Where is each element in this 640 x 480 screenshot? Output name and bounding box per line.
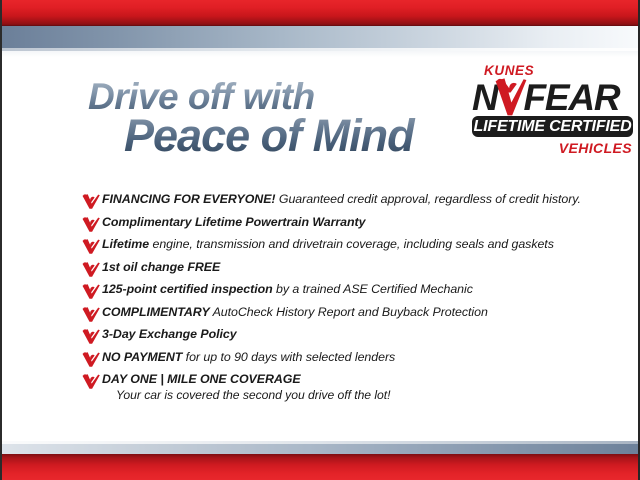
benefit-item: 125-point certified inspection by a trai… [82,282,608,299]
check-mark-icon [494,78,527,116]
benefit-item: DAY ONE | MILE ONE COVERAGEYour car is c… [82,372,608,402]
top-red-band [2,0,638,26]
check-mark-icon [82,239,102,254]
benefit-headline: 125-point certified inspection [102,282,273,296]
benefit-item: NO PAYMENT for up to 90 days with select… [82,350,608,367]
benefit-detail: engine, transmission and drivetrain cove… [149,237,554,251]
benefit-text: NO PAYMENT for up to 90 days with select… [102,350,395,365]
benefit-item: COMPLIMENTARY AutoCheck History Report a… [82,305,608,322]
check-mark-icon [82,329,102,344]
headline-block: Drive off with Peace of Mind [88,78,468,159]
benefit-detail: Guaranteed credit approval, regardless o… [275,192,580,206]
benefit-text: FINANCING FOR EVERYONE! Guaranteed credi… [102,192,581,207]
logo-no-fear-wordmark: N FEAR [472,78,619,116]
benefit-headline: COMPLIMENTARY [102,305,210,319]
check-mark-icon [82,194,102,209]
top-slate-band [2,26,638,51]
benefit-text: 3-Day Exchange Policy [102,327,237,342]
check-mark-icon [82,262,102,277]
logo-brand-kunes: KUNES [484,64,534,78]
benefit-subtext: Your car is covered the second you drive… [116,388,390,402]
benefit-detail: for up to 90 days with selected lenders [182,350,395,364]
benefit-item: Complimentary Lifetime Powertrain Warran… [82,215,608,232]
benefit-headline: Complimentary Lifetime Powertrain Warran… [102,215,365,229]
benefit-headline: DAY ONE | MILE ONE COVERAGE [102,372,301,386]
benefit-item: 1st oil change FREE [82,260,608,277]
benefit-headline: 1st oil change FREE [102,260,220,274]
logo-banner-text: LIFETIME CERTIFIED [474,119,632,135]
bottom-slate-band [2,441,638,454]
check-mark-icon [82,374,102,389]
bottom-red-band [2,454,638,480]
benefit-text: 125-point certified inspection by a trai… [102,282,473,297]
benefit-headline: Lifetime [102,237,149,251]
benefit-text: 1st oil change FREE [102,260,220,275]
benefit-detail: by a trained ASE Certified Mechanic [273,282,473,296]
benefit-text: DAY ONE | MILE ONE COVERAGEYour car is c… [102,372,390,402]
check-mark-icon [82,307,102,322]
benefit-item: Lifetime engine, transmission and drivet… [82,237,608,254]
kunes-no-fear-logo: KUNES N FEAR LIFETIME CERTIFIED VEHICLES [468,64,636,162]
check-mark-icon [82,284,102,299]
benefit-item: 3-Day Exchange Policy [82,327,608,344]
benefit-text: Complimentary Lifetime Powertrain Warran… [102,215,365,230]
benefit-headline: NO PAYMENT [102,350,182,364]
benefit-headline: FINANCING FOR EVERYONE! [102,192,275,206]
benefit-text: Lifetime engine, transmission and drivet… [102,237,554,252]
headline-line-2: Peace of Mind [124,113,468,159]
advertisement-canvas: Drive off with Peace of Mind KUNES N FEA… [0,0,640,480]
logo-word-fear: FEAR [524,79,620,116]
benefit-headline: 3-Day Exchange Policy [102,327,237,341]
benefits-list: FINANCING FOR EVERYONE! Guaranteed credi… [82,192,608,408]
logo-word-vehicles: VEHICLES [559,141,632,155]
check-mark-icon [82,217,102,232]
benefit-text: COMPLIMENTARY AutoCheck History Report a… [102,305,488,320]
check-mark-icon [82,352,102,367]
top-white-gap [2,51,638,57]
benefit-detail: AutoCheck History Report and Buyback Pro… [210,305,488,319]
logo-lifetime-certified-banner: LIFETIME CERTIFIED [472,116,633,137]
benefit-item: FINANCING FOR EVERYONE! Guaranteed credi… [82,192,608,209]
